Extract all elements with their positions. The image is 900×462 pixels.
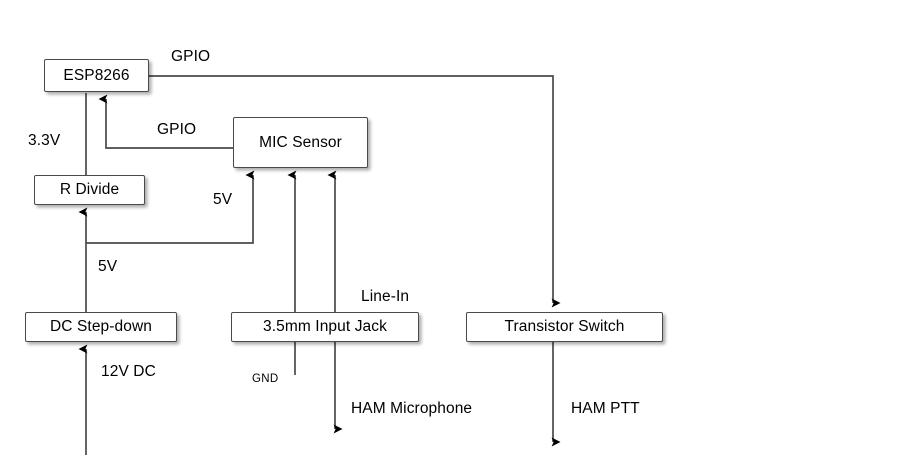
wire-esp-to-transistor	[149, 76, 553, 303]
node-esp8266[interactable]: ESP8266	[44, 59, 149, 92]
edge-label-5v-rdivide: 5V	[98, 258, 117, 276]
node-label-esp8266: ESP8266	[63, 67, 129, 85]
edge-label-ham-ptt: HAM PTT	[571, 400, 640, 418]
node-transistor-switch[interactable]: Transistor Switch	[466, 312, 663, 342]
edge-label-gpio-mic: GPIO	[157, 121, 196, 139]
edge-label-gpio-top: GPIO	[171, 48, 210, 66]
block-diagram: ESP8266 MIC Sensor R Divide DC Step-down…	[0, 0, 900, 462]
edge-label-ham-microphone: HAM Microphone	[351, 400, 472, 418]
node-label-mic-sensor: MIC Sensor	[259, 134, 342, 152]
edge-label-3v3: 3.3V	[28, 132, 60, 150]
node-r-divide[interactable]: R Divide	[34, 175, 145, 205]
edge-label-5v-mic: 5V	[213, 191, 232, 209]
edge-label-line-in: Line-In	[361, 288, 409, 306]
node-label-transistor-switch: Transistor Switch	[505, 318, 625, 336]
node-label-r-divide: R Divide	[60, 181, 119, 199]
node-dc-step-down[interactable]: DC Step-down	[25, 312, 177, 342]
node-input-jack[interactable]: 3.5mm Input Jack	[231, 312, 419, 342]
node-label-input-jack: 3.5mm Input Jack	[263, 318, 387, 336]
edge-label-12v-dc: 12V DC	[101, 363, 156, 381]
edge-label-gnd: GND	[252, 373, 278, 385]
node-mic-sensor[interactable]: MIC Sensor	[233, 117, 368, 168]
node-label-dc-step-down: DC Step-down	[50, 318, 152, 336]
